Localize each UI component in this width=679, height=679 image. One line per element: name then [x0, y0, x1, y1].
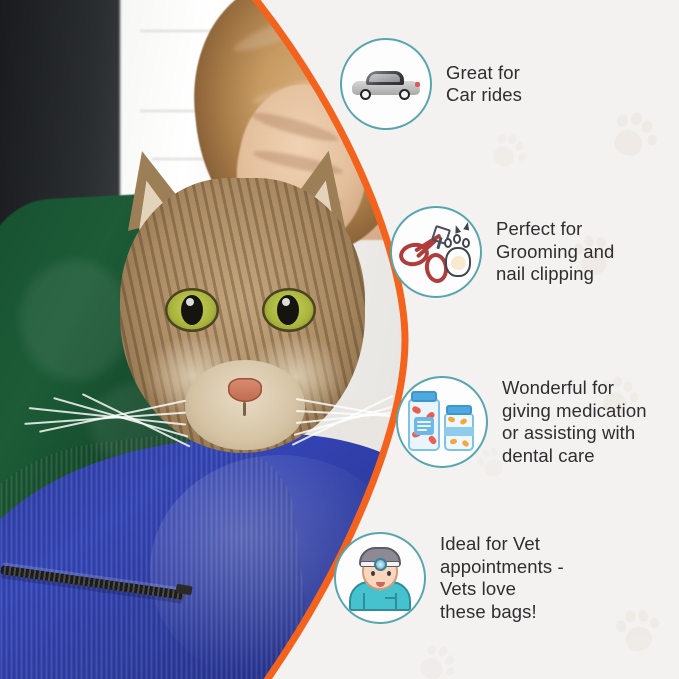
feature-label: Wonderful for giving medication or assis…	[502, 377, 647, 467]
feature-label: Ideal for Vet appointments - Vets love t…	[440, 533, 564, 623]
feature-label: Perfect for Grooming and nail clipping	[496, 218, 614, 286]
cat-mouth	[243, 402, 246, 416]
cat-eye-glint-left	[186, 298, 194, 306]
feature-list: Great for Car rides	[318, 0, 679, 679]
feature-item-vet[interactable]: Ideal for Vet appointments - Vets love t…	[334, 532, 564, 624]
cat-nose	[228, 378, 262, 402]
cat-eye-glint-right	[282, 298, 290, 306]
feature-item-medication[interactable]: Wonderful for giving medication or assis…	[396, 376, 647, 468]
car-icon	[340, 38, 432, 130]
nail-clipper-paw-icon	[390, 206, 482, 298]
feature-label: Great for Car rides	[446, 62, 522, 107]
medication-bottles-icon	[396, 376, 488, 468]
feature-item-grooming[interactable]: Perfect for Grooming and nail clipping	[390, 206, 614, 298]
veterinarian-icon	[334, 532, 426, 624]
feature-item-car-rides[interactable]: Great for Car rides	[340, 38, 522, 130]
product-feature-infographic: Great for Car rides	[0, 0, 679, 679]
